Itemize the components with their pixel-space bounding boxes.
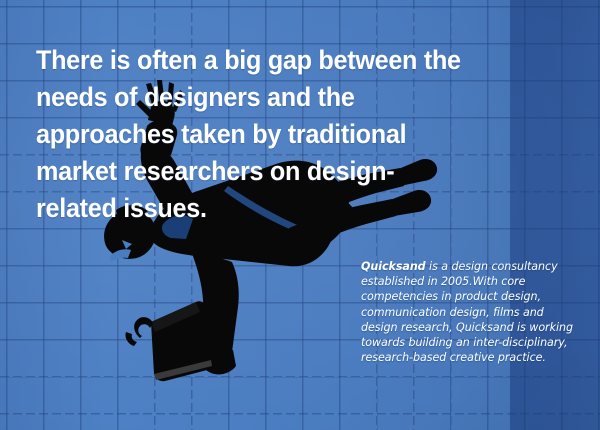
slide-canvas: There is often a big gap between the nee… <box>0 0 600 430</box>
body-copy-rest: is a design consultancy established in 2… <box>361 260 573 364</box>
brand-name: Quicksand <box>361 260 426 273</box>
headline-text: There is often a big gap between the nee… <box>36 42 483 227</box>
body-copy-paragraph: Quicksand is a design consultancy establ… <box>361 259 574 365</box>
background-right-panel <box>510 0 600 430</box>
